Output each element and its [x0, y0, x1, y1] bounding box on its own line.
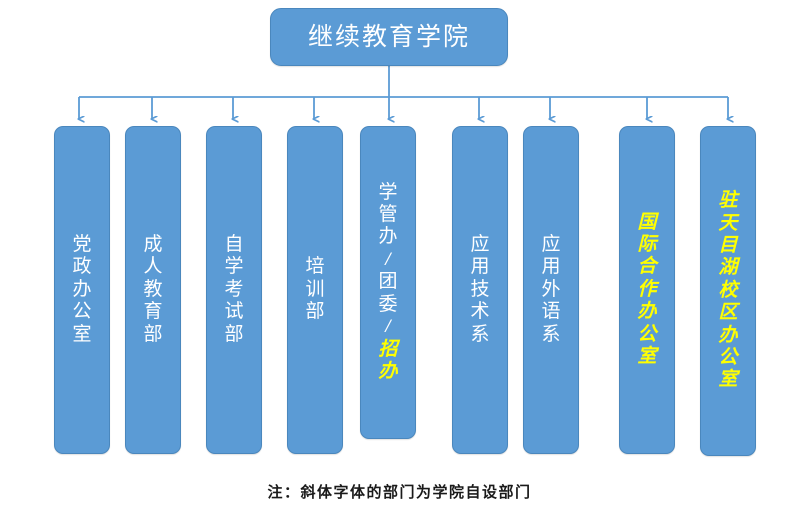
department-label-char: 部: [143, 324, 162, 346]
department-label-char: 系: [470, 324, 489, 346]
department-label-char: 办: [637, 301, 656, 323]
department-label: 培训部: [288, 256, 342, 323]
department-label-char: 室: [637, 346, 656, 368]
department-label-char: 办: [72, 279, 91, 301]
department-label-char: 室: [718, 369, 737, 391]
department-label-char: 外: [541, 279, 560, 301]
department-label-char: 用: [470, 256, 489, 278]
department-label-char: 应: [541, 234, 560, 256]
department-label-char: 管: [378, 204, 397, 226]
department-label-char: 技: [470, 279, 489, 301]
department-label-char: 学: [224, 256, 243, 278]
department-label-char: 学: [378, 182, 397, 204]
department-label-char: 招: [378, 339, 397, 361]
department-label: 驻天目湖校区办公室: [701, 190, 755, 392]
department-label-char: 公: [637, 324, 656, 346]
root-node-label: 继续教育学院: [308, 25, 470, 50]
department-label: 成人教育部: [126, 234, 180, 346]
department-label-char: 公: [718, 347, 737, 369]
dept-applied-technology[interactable]: 应用技术系: [452, 126, 508, 454]
department-label-char: 自: [224, 234, 243, 256]
dept-training[interactable]: 培训部: [287, 126, 343, 454]
department-label-char: 合: [637, 256, 656, 278]
department-label-char: 培: [305, 256, 324, 278]
department-label-char: 目: [718, 235, 737, 257]
dept-adult-education[interactable]: 成人教育部: [125, 126, 181, 454]
department-label: 国际合作办公室: [620, 212, 674, 369]
department-label-char: 办: [378, 226, 397, 248]
department-label: 自学考试部: [207, 234, 261, 346]
department-label-char: 系: [541, 324, 560, 346]
department-label: 应用外语系: [524, 234, 578, 346]
department-label-char: 校: [718, 280, 737, 302]
department-label-char: 室: [72, 324, 91, 346]
footnote-note: 注：斜体字体的部门为学院自设部门: [0, 481, 799, 502]
department-label-char: 部: [305, 301, 324, 323]
department-label-char: 育: [143, 301, 162, 323]
department-label-char: 党: [72, 234, 91, 256]
department-label-char: 用: [541, 256, 560, 278]
department-label-char: 成: [143, 234, 162, 256]
department-label-char: 天: [718, 213, 737, 235]
department-label-char: /: [385, 316, 390, 338]
department-label-char: 公: [72, 301, 91, 323]
department-label-char: 人: [143, 256, 162, 278]
department-label: 应用技术系: [453, 234, 507, 346]
dept-party-government-office[interactable]: 党政办公室: [54, 126, 110, 454]
department-label-char: 办: [378, 361, 397, 383]
department-label-char: 团: [378, 271, 397, 293]
department-label-char: 考: [224, 279, 243, 301]
department-label-char: 办: [718, 325, 737, 347]
department-label-char: 部: [224, 324, 243, 346]
department-label-char: 湖: [718, 257, 737, 279]
department-label-char: 术: [470, 301, 489, 323]
department-label-char: /: [385, 249, 390, 271]
department-label: 学管办/团委/招办: [361, 182, 415, 384]
root-node-continuing-education-college[interactable]: 继续教育学院: [270, 8, 508, 66]
department-label-char: 驻: [718, 190, 737, 212]
department-label: 党政办公室: [55, 234, 109, 346]
dept-international-cooperation-office[interactable]: 国际合作办公室: [619, 126, 675, 454]
department-label-char: 语: [541, 301, 560, 323]
department-label-char: 国: [637, 212, 656, 234]
department-label-char: 作: [637, 279, 656, 301]
department-label-char: 际: [637, 234, 656, 256]
dept-academic-affairs-youth-league-admissions[interactable]: 学管办/团委/招办: [360, 126, 416, 439]
department-label-char: 政: [72, 256, 91, 278]
department-label-char: 应: [470, 234, 489, 256]
department-label-char: 训: [305, 279, 324, 301]
org-chart-canvas: 继续教育学院 党政办公室成人教育部自学考试部培训部学管办/团委/招办应用技术系应…: [0, 0, 799, 518]
dept-self-study-exam[interactable]: 自学考试部: [206, 126, 262, 454]
department-label-char: 教: [143, 279, 162, 301]
department-label-char: 区: [718, 302, 737, 324]
department-label-char: 试: [224, 301, 243, 323]
dept-tianmu-lake-campus-office[interactable]: 驻天目湖校区办公室: [700, 126, 756, 456]
department-label-char: 委: [378, 294, 397, 316]
dept-applied-foreign-languages[interactable]: 应用外语系: [523, 126, 579, 454]
